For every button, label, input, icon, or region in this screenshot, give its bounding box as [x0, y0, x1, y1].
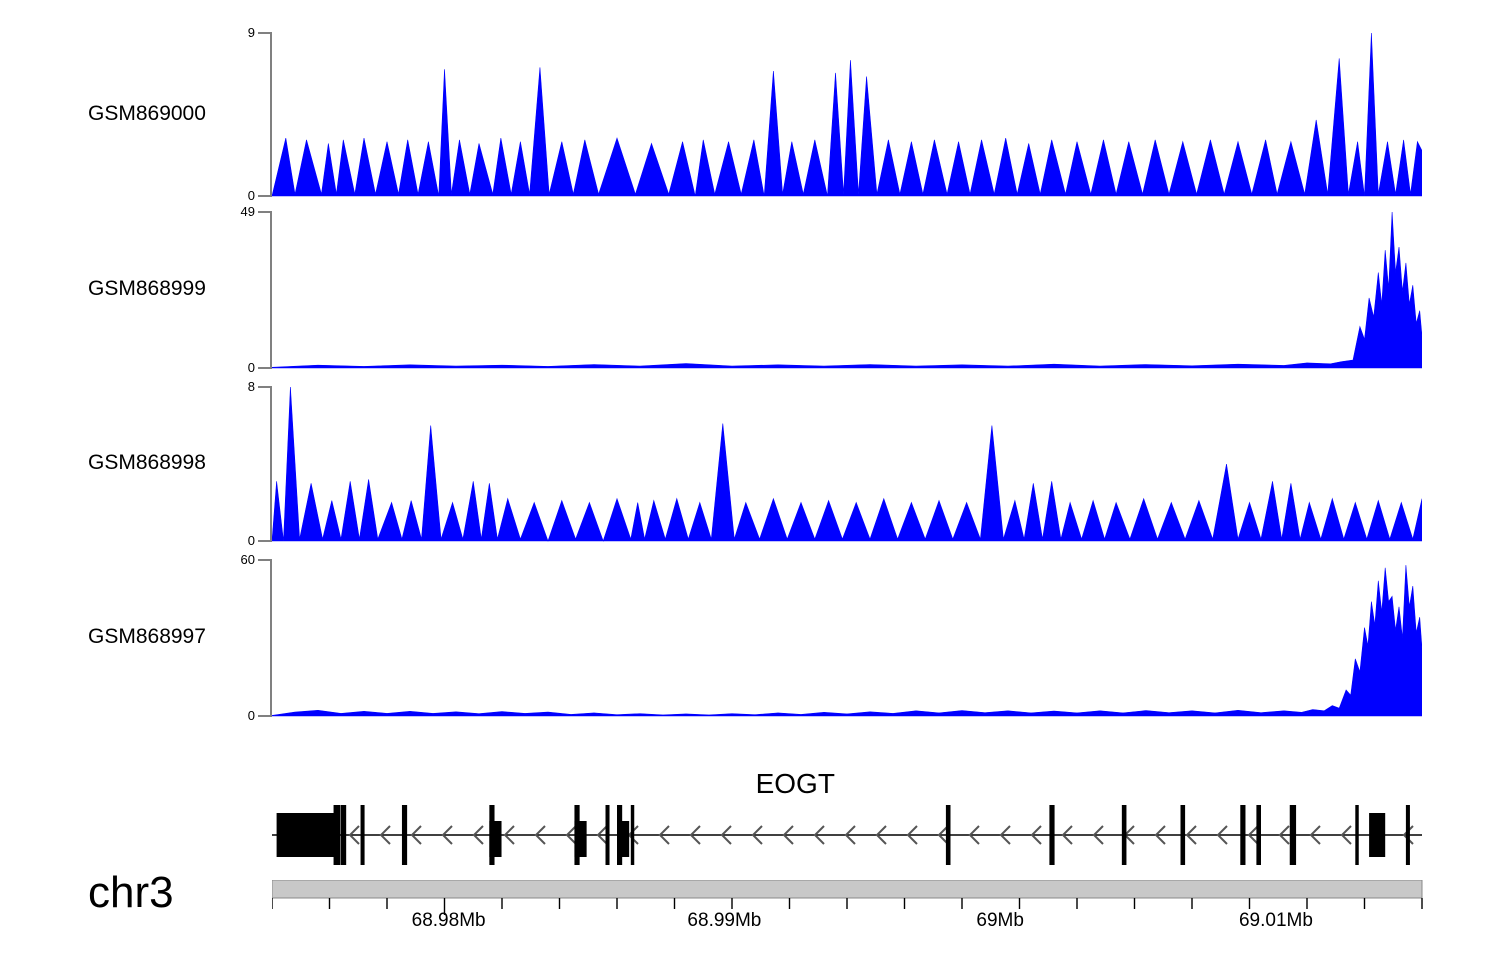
- coverage-area-gsm868999: [272, 212, 1422, 369]
- y-axis-min-label: 0: [210, 533, 255, 548]
- gene-name-label: EOGT: [756, 768, 835, 800]
- ruler-tick-label: 68.98Mb: [412, 910, 486, 932]
- y-axis-min-label: 0: [210, 708, 255, 723]
- ruler-tick-label: 68.99Mb: [687, 910, 761, 932]
- track-label-gsm868999: GSM868999: [88, 277, 206, 301]
- y-axis-max-label: 49: [210, 204, 255, 219]
- chromosome-ruler[interactable]: chr3 68.98Mb68.99Mb69Mb69.01Mb: [0, 0, 1500, 980]
- gene-model-track[interactable]: EOGT: [0, 0, 1500, 980]
- y-axis-bracket: [258, 210, 288, 370]
- coverage-track-gsm868999[interactable]: GSM868999490: [0, 0, 1500, 980]
- gene-structure: [272, 800, 1426, 870]
- track-label-gsm868997: GSM868997: [88, 625, 206, 649]
- ideogram-bar[interactable]: [272, 880, 1426, 926]
- y-axis-max-label: 60: [210, 552, 255, 567]
- coverage-area-gsm868998: [272, 387, 1422, 542]
- coverage-area-gsm869000: [272, 33, 1422, 197]
- y-axis-min-label: 0: [210, 360, 255, 375]
- y-axis-bracket: [258, 385, 288, 543]
- ruler-tick-label: 69Mb: [976, 910, 1024, 932]
- coverage-area-gsm868997: [272, 560, 1422, 717]
- chromosome-label: chr3: [88, 868, 174, 918]
- y-axis-max-label: 8: [210, 379, 255, 394]
- y-axis-bracket: [258, 31, 288, 198]
- y-axis-min-label: 0: [210, 188, 255, 203]
- coverage-track-gsm868998[interactable]: GSM86899880: [0, 0, 1500, 980]
- ruler-tick-label: 69.01Mb: [1239, 910, 1313, 932]
- track-label-gsm869000: GSM869000: [88, 102, 206, 126]
- track-label-gsm868998: GSM868998: [88, 451, 206, 475]
- y-axis-bracket: [258, 558, 288, 718]
- genome-browser: GSM86900090 GSM868999490 GSM86899880 GSM…: [0, 0, 1500, 980]
- coverage-track-gsm868997[interactable]: GSM868997600: [0, 0, 1500, 980]
- y-axis-max-label: 9: [210, 25, 255, 40]
- coverage-track-gsm869000[interactable]: GSM86900090: [0, 0, 1500, 980]
